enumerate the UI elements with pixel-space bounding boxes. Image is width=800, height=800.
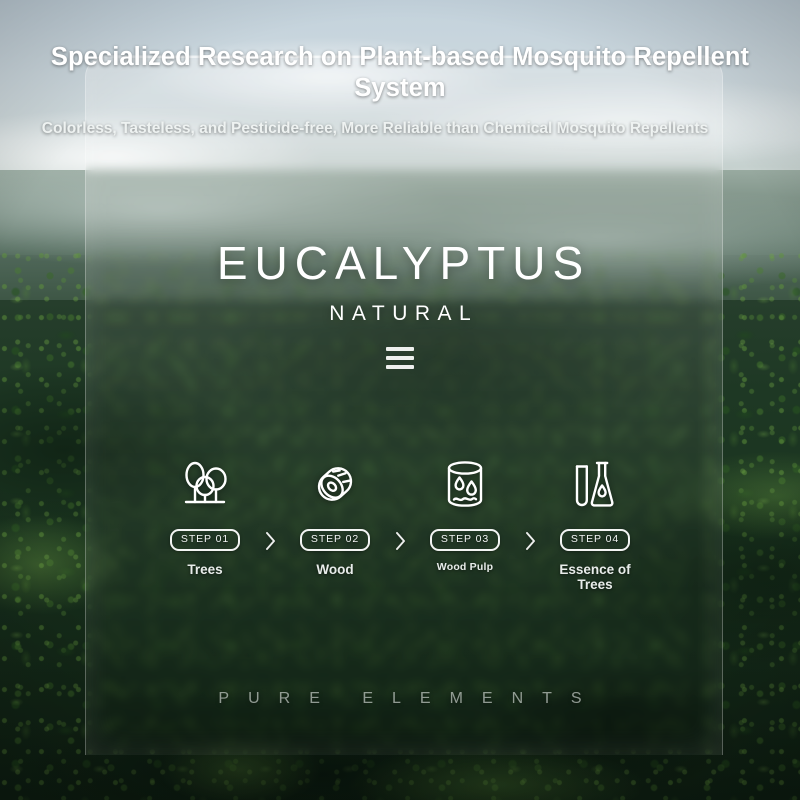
poster-canvas: Specialized Research on Plant-based Mosq…: [0, 0, 800, 800]
log-icon: [309, 455, 361, 513]
step-item-2[interactable]: STEP 02 Wood: [287, 455, 383, 577]
divider-bar: [386, 356, 414, 360]
three-bar-divider-icon: [386, 347, 414, 369]
step-badge: STEP 01: [170, 529, 240, 551]
step-label: Essence of Trees: [547, 562, 643, 592]
chevron-right-icon: [383, 455, 417, 551]
step-badge: STEP 04: [560, 529, 630, 551]
footer-tagline: PURE ELEMENTS: [0, 690, 800, 708]
trees-icon: [180, 455, 230, 513]
chevron-right-icon: [253, 455, 287, 551]
brand-block: EUCALYPTUS NATURAL: [0, 240, 800, 369]
step-item-3[interactable]: STEP 03 Wood Pulp: [417, 455, 513, 573]
process-steps: STEP 01 Trees: [0, 455, 800, 592]
step-label: Wood Pulp: [437, 562, 493, 574]
page-title: Specialized Research on Plant-based Mosq…: [0, 42, 800, 104]
step-badge: STEP 03: [430, 529, 500, 551]
header-block: Specialized Research on Plant-based Mosq…: [0, 42, 800, 139]
step-item-4[interactable]: STEP 04 Essence of Trees: [547, 455, 643, 592]
step-badge: STEP 02: [300, 529, 370, 551]
step-label: Trees: [187, 562, 222, 577]
brand-tagline: NATURAL: [0, 303, 800, 324]
chevron-right-icon: [513, 455, 547, 551]
flask-icon: [571, 455, 619, 513]
step-label: Wood: [316, 562, 353, 577]
page-subtitle: Colorless, Tasteless, and Pesticide-free…: [0, 119, 800, 139]
divider-bar: [386, 365, 414, 369]
glass-card: [85, 55, 723, 755]
brand-name: EUCALYPTUS: [0, 240, 800, 286]
step-item-1[interactable]: STEP 01 Trees: [157, 455, 253, 577]
pulp-vat-icon: [442, 455, 488, 513]
divider-bar: [386, 347, 414, 351]
